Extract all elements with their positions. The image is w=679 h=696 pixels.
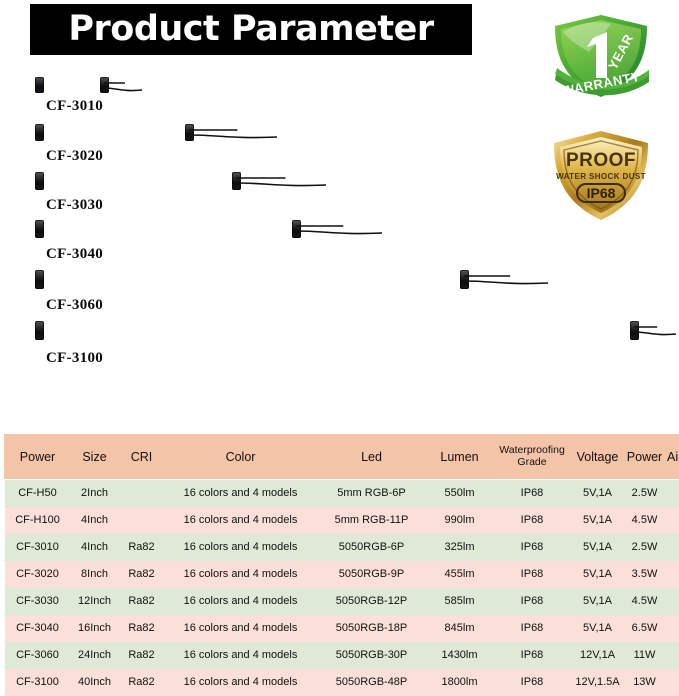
table-cell: 5050RGB-48P	[317, 669, 427, 696]
column-header-cri-2: CRI	[119, 435, 165, 480]
led-bar-endcap-left	[35, 172, 44, 190]
led-bar-cf-3100	[38, 322, 636, 339]
table-cell: 5W	[666, 615, 679, 642]
table-row: CF-30104InchRa8216 colors and 4 models50…	[5, 534, 679, 561]
table-cell: 12Inch	[71, 588, 119, 615]
led-bar-endcap-left	[35, 270, 44, 289]
table-cell: 16 colors and 4 models	[165, 534, 317, 561]
led-bar-endcap-right	[100, 77, 109, 93]
table-cell: 4Inch	[71, 507, 119, 534]
table-cell: 5V,1A	[572, 588, 624, 615]
product-model-label: CF-3100	[46, 350, 103, 367]
table-cell: 2.5W	[624, 480, 666, 507]
spec-table: PowerSizeCRIColorLedLumenWaterproofing G…	[4, 434, 679, 696]
table-cell: Ra82	[119, 615, 165, 642]
table-cell: 5050RGB-9P	[317, 561, 427, 588]
product-illustrations: CF-3010CF-3020CF-3030CF-3040CF-3060CF-31…	[0, 60, 679, 420]
table-cell	[119, 480, 165, 507]
table-cell: 5050RGB-18P	[317, 615, 427, 642]
led-bar-cf-3060	[38, 271, 466, 288]
table-row: CF-306024InchRa8216 colors and 4 models5…	[5, 642, 679, 669]
led-bar-endcap-right	[460, 270, 469, 289]
table-cell: Ra82	[119, 534, 165, 561]
led-bar-cf-3020	[38, 125, 191, 140]
table-row: CF-304016InchRa8216 colors and 4 models5…	[5, 615, 679, 642]
table-row: CF-H502Inch16 colors and 4 models5mm RGB…	[5, 480, 679, 507]
table-cell: 8W+	[666, 669, 679, 696]
table-row: CF-310040InchRa8216 colors and 4 models5…	[5, 669, 679, 696]
table-cell: 2Inch	[71, 480, 119, 507]
power-cable	[634, 324, 676, 334]
table-row: CF-30208InchRa8216 colors and 4 models50…	[5, 561, 679, 588]
led-bar-endcap-right	[232, 172, 241, 190]
table-cell: 6.5W	[624, 615, 666, 642]
column-header-color-3: Color	[165, 435, 317, 480]
page-title: Product Parameter	[68, 12, 433, 47]
table-cell: CF-3100	[5, 669, 71, 696]
table-cell: Ra82	[119, 642, 165, 669]
table-cell: 2.5W	[624, 534, 666, 561]
table-cell: 24Inch	[71, 642, 119, 669]
led-bar-endcap-left	[35, 220, 44, 238]
table-cell: IP68	[493, 534, 572, 561]
table-cell: CF-3040	[5, 615, 71, 642]
table-cell: 16 colors and 4 models	[165, 642, 317, 669]
table-cell: IP68	[493, 480, 572, 507]
table-cell: CF-H50	[5, 480, 71, 507]
table-cell: 585lm	[427, 588, 493, 615]
table-cell	[119, 507, 165, 534]
table-cell: 16 colors and 4 models	[165, 669, 317, 696]
led-bar-cf-3040	[38, 221, 298, 237]
power-cable	[464, 273, 548, 283]
table-cell: 16Inch	[71, 615, 119, 642]
table-cell: Ra82	[119, 561, 165, 588]
table-cell: Ra82	[119, 588, 165, 615]
table-cell: CF-3010	[5, 534, 71, 561]
product-model-label: CF-3040	[46, 246, 103, 263]
table-cell: 5050RGB-6P	[317, 534, 427, 561]
table-cell: 4Inch	[71, 534, 119, 561]
table-cell: 11W	[624, 642, 666, 669]
power-cable	[104, 80, 142, 90]
table-cell: 1430lm	[427, 642, 493, 669]
table-cell: 5V,1A	[572, 507, 624, 534]
table-cell: 40Inch	[71, 669, 119, 696]
table-cell: 5V,1A	[572, 615, 624, 642]
table-cell: 845lm	[427, 615, 493, 642]
table-cell: 16 colors and 4 models	[165, 507, 317, 534]
table-cell: 16 colors and 4 models	[165, 480, 317, 507]
table-cell: 990lm	[427, 507, 493, 534]
column-header-power-0: Power	[5, 435, 71, 480]
table-cell: 1800lm	[427, 669, 493, 696]
table-cell: Ra82	[119, 669, 165, 696]
product-model-label: CF-3010	[46, 98, 103, 115]
table-cell: 12V,1.5A	[572, 669, 624, 696]
table-cell: 5050RGB-30P	[317, 642, 427, 669]
led-bar-endcap-left	[35, 124, 44, 141]
table-cell: 5V,1A	[572, 534, 624, 561]
table-cell: 16 colors and 4 models	[165, 561, 317, 588]
page-title-banner: Product Parameter	[30, 4, 472, 55]
product-model-label: CF-3060	[46, 297, 103, 314]
spec-table-head: PowerSizeCRIColorLedLumenWaterproofing G…	[5, 435, 679, 480]
spec-table-body: CF-H502Inch16 colors and 4 models5mm RGB…	[5, 480, 679, 696]
table-cell: 3W	[666, 561, 679, 588]
product-model-label: CF-3030	[46, 197, 103, 214]
table-cell: IP68	[493, 615, 572, 642]
power-cable	[189, 127, 277, 137]
table-row: CF-303012InchRa8216 colors and 4 models5…	[5, 588, 679, 615]
table-cell: IP68	[493, 561, 572, 588]
table-cell: IP68	[493, 588, 572, 615]
table-cell: 325lm	[427, 534, 493, 561]
table-cell: 5V,1A	[572, 561, 624, 588]
table-cell: CF-H100	[5, 507, 71, 534]
table-cell: 4.5W	[624, 507, 666, 534]
table-cell: 5V,1A	[572, 480, 624, 507]
table-cell: CF-3060	[5, 642, 71, 669]
table-cell: 5050RGB-12P	[317, 588, 427, 615]
table-cell: CF-3030	[5, 588, 71, 615]
table-cell: IP68	[493, 507, 572, 534]
led-bar-endcap-right	[630, 321, 639, 340]
column-header-lumen-5: Lumen	[427, 435, 493, 480]
table-cell: 3W	[666, 507, 679, 534]
column-header-led-4: Led	[317, 435, 427, 480]
led-bar-endcap-right	[292, 220, 301, 238]
table-cell: 13W	[624, 669, 666, 696]
table-cell: 5mm RGB-6P	[317, 480, 427, 507]
table-cell: 16 colors and 4 models	[165, 588, 317, 615]
table-cell: IP68	[493, 642, 572, 669]
column-header-power-8: Power	[624, 435, 666, 480]
table-row: CF-H1004Inch16 colors and 4 models5mm RG…	[5, 507, 679, 534]
product-model-label: CF-3020	[46, 148, 103, 165]
led-bar-endcap-left	[35, 77, 44, 93]
table-cell: 455lm	[427, 561, 493, 588]
table-cell: 5W	[666, 588, 679, 615]
table-cell: 3.5W	[624, 561, 666, 588]
table-cell: 4.5W	[624, 588, 666, 615]
table-cell: 8Inch	[71, 561, 119, 588]
led-bar-cf-3010	[38, 78, 106, 92]
led-bar-endcap-right	[185, 124, 194, 141]
led-bar-endcap-left	[35, 321, 44, 340]
table-cell: 2W	[666, 480, 679, 507]
table-cell: 5mm RGB-11P	[317, 507, 427, 534]
led-bar-cf-3030	[38, 173, 238, 189]
table-cell: IP68	[493, 669, 572, 696]
power-cable	[236, 175, 326, 185]
table-cell: CF-3020	[5, 561, 71, 588]
column-header-size-1: Size	[71, 435, 119, 480]
table-cell: 12V,1A	[572, 642, 624, 669]
column-header-voltage-7: Voltage	[572, 435, 624, 480]
table-cell: 16 colors and 4 models	[165, 615, 317, 642]
power-cable	[296, 223, 382, 233]
table-cell: 550lm	[427, 480, 493, 507]
table-cell: 8W	[666, 642, 679, 669]
spec-table-header-row: PowerSizeCRIColorLedLumenWaterproofing G…	[5, 435, 679, 480]
column-header-air-pump-9: Air Pump	[666, 435, 679, 480]
table-cell: 2W	[666, 534, 679, 561]
column-header-waterproofing-grade-6: Waterproofing Grade	[493, 435, 572, 480]
